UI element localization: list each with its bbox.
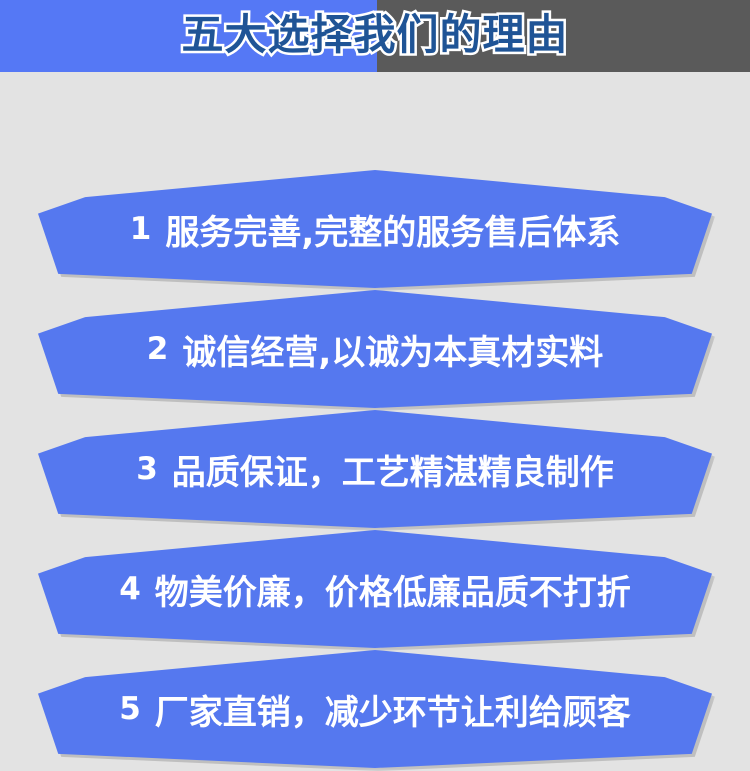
banner-index: 5 bbox=[119, 691, 141, 727]
banner-content: 4 物美价廉，价格低廉品质不打折 bbox=[38, 530, 712, 648]
banner-label: 诚信经营,以诚为本真材实料 bbox=[182, 325, 603, 374]
page-header: 五大选择我们的理由 bbox=[0, 0, 750, 72]
banner-index: 1 bbox=[130, 211, 152, 247]
list-item[interactable]: 1 服务完善,完整的服务售后体系 bbox=[0, 170, 750, 290]
page-title: 五大选择我们的理由 bbox=[0, 0, 750, 72]
list-item[interactable]: 3 品质保证，工艺精湛精良制作 bbox=[0, 410, 750, 530]
banner-label: 服务完善,完整的服务售后体系 bbox=[165, 205, 620, 254]
reasons-list: 1 服务完善,完整的服务售后体系 2 诚信经营,以诚为本真材实料 3 品质保证，… bbox=[0, 72, 750, 731]
banner-index: 3 bbox=[136, 451, 158, 487]
banner-content: 2 诚信经营,以诚为本真材实料 bbox=[38, 290, 712, 408]
list-item[interactable]: 4 物美价廉，价格低廉品质不打折 bbox=[0, 530, 750, 650]
banner-index: 4 bbox=[119, 571, 141, 607]
banner-index: 2 bbox=[147, 331, 169, 367]
list-item[interactable]: 2 诚信经营,以诚为本真材实料 bbox=[0, 290, 750, 410]
banner-content: 5 厂家直销，减少环节让利给顾客 bbox=[38, 650, 712, 768]
banner-content: 1 服务完善,完整的服务售后体系 bbox=[38, 170, 712, 288]
banner-label: 物美价廉，价格低廉品质不打折 bbox=[155, 565, 631, 614]
banner-label: 品质保证，工艺精湛精良制作 bbox=[172, 445, 614, 494]
list-item[interactable]: 5 厂家直销，减少环节让利给顾客 bbox=[0, 650, 750, 770]
banner-label: 厂家直销，减少环节让利给顾客 bbox=[155, 685, 631, 734]
banner-content: 3 品质保证，工艺精湛精良制作 bbox=[38, 410, 712, 528]
